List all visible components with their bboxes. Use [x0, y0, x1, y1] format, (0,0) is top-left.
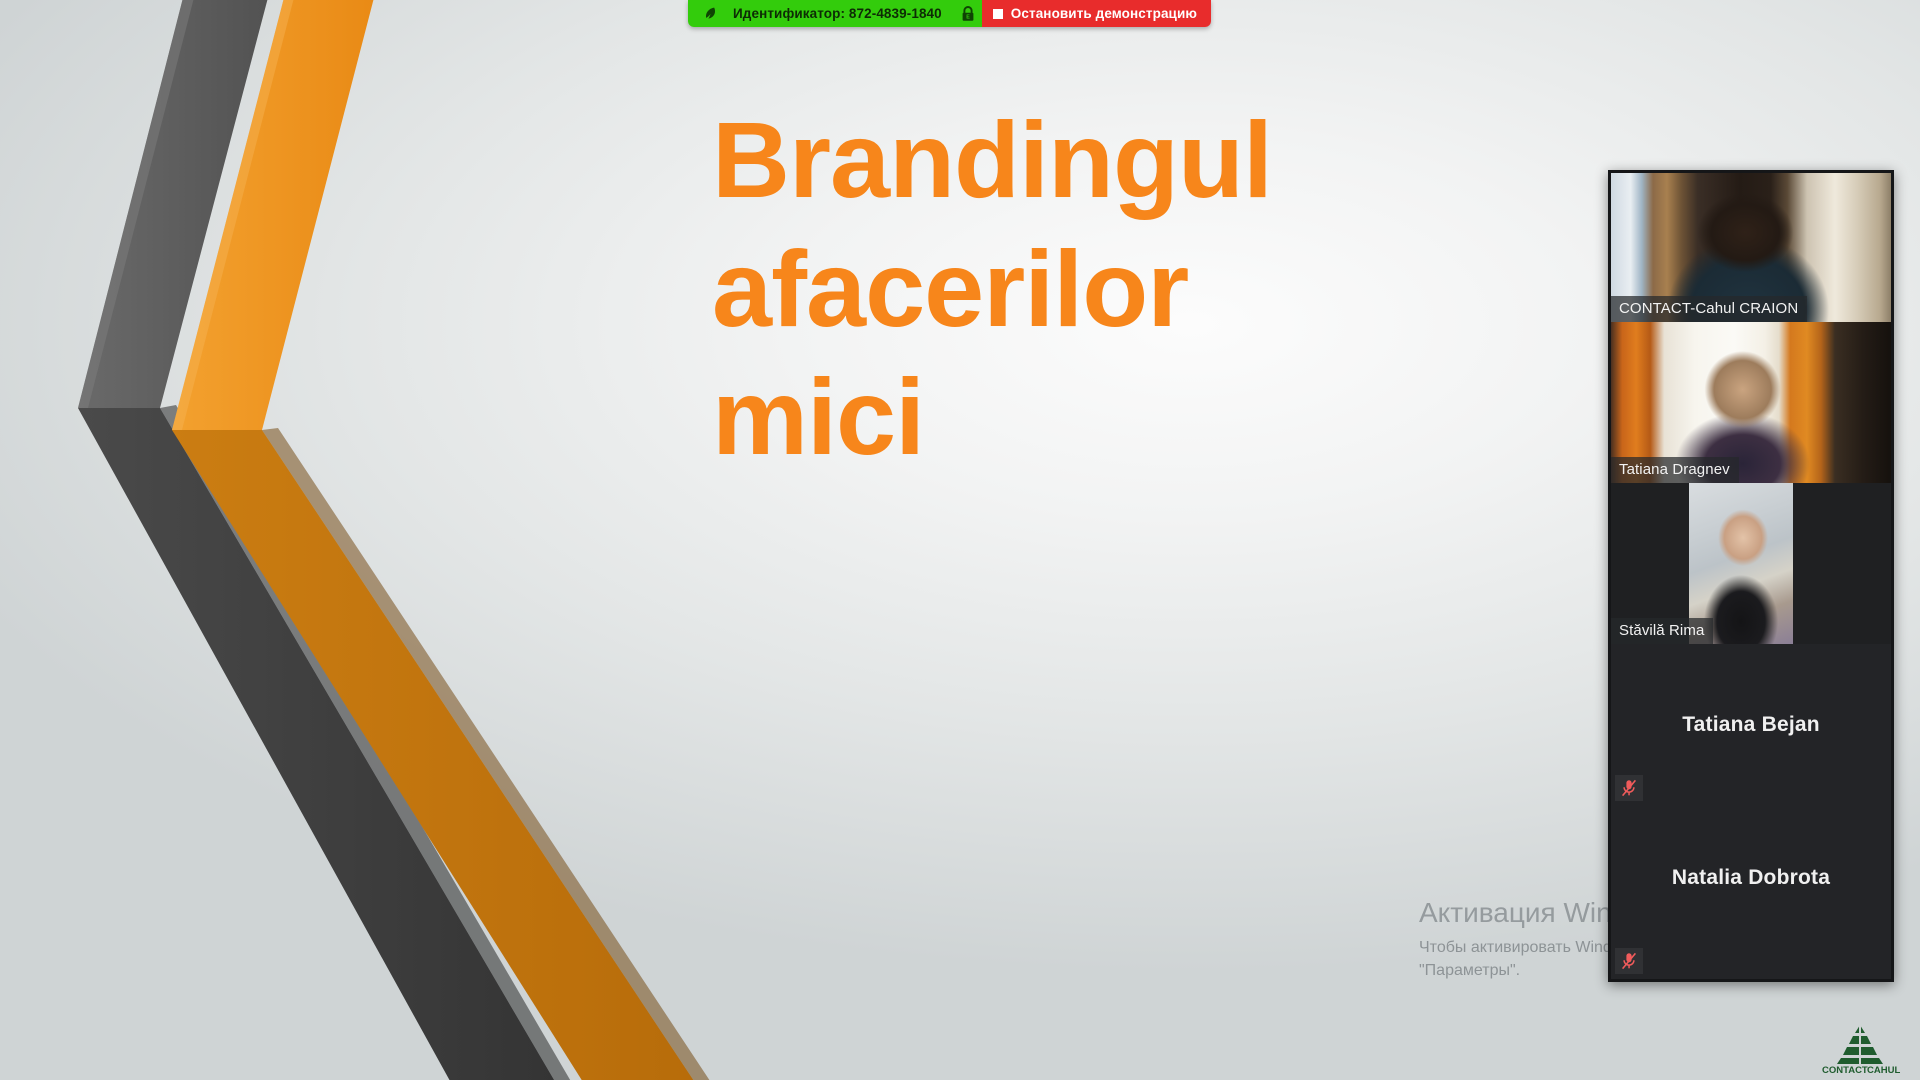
participant-name-label: Tatiana Dragnev [1611, 457, 1739, 483]
video-tile-stavila-rima[interactable]: Stăvilă Rima [1611, 483, 1891, 644]
stop-share-button[interactable]: Остановить демонстрацию [982, 0, 1211, 27]
video-tile-contact-cahul-craion[interactable]: CONTACT-Cahul CRAION [1611, 173, 1891, 322]
video-tile-tatiana-dragnev[interactable]: Tatiana Dragnev [1611, 322, 1891, 483]
logo-text-left: CONTACT [1822, 1065, 1868, 1074]
title-line-1: Brandingul [712, 96, 1512, 225]
participant-name-label: Stăvilă Rima [1611, 618, 1713, 644]
meeting-id-label: Идентификатор: 872-4839-1840 [723, 6, 954, 21]
screen-share-icon [697, 6, 723, 21]
participant-name-label: Tatiana Bejan [1611, 644, 1891, 806]
microphone-muted-icon [1615, 948, 1643, 974]
lock-icon[interactable]: E [954, 6, 982, 22]
share-status-group: Идентификатор: 872-4839-1840 E [688, 0, 982, 27]
video-tile-tatiana-bejan[interactable]: Tatiana Bejan [1611, 644, 1891, 806]
participant-name-label: Natalia Dobrota [1611, 806, 1891, 979]
contact-cahul-logo: CONTACT CAHUL [1818, 1022, 1904, 1074]
stop-share-label: Остановить демонстрацию [1011, 6, 1197, 21]
title-line-2: afacerilor [712, 225, 1512, 354]
title-line-3: mici [712, 353, 1512, 482]
stop-square-icon [993, 9, 1003, 19]
participant-name-label: CONTACT-Cahul CRAION [1611, 296, 1807, 322]
video-tile-natalia-dobrota[interactable]: Natalia Dobrota [1611, 806, 1891, 979]
page-title: Brandingul afacerilor mici [712, 96, 1512, 482]
svg-text:E: E [966, 14, 970, 20]
decorative-chevron-graphic [0, 0, 820, 1080]
microphone-muted-icon [1615, 775, 1643, 801]
video-filmstrip-panel[interactable]: CONTACT-Cahul CRAION Tatiana Dragnev Stă… [1608, 170, 1894, 982]
screen-share-toolbar[interactable]: Идентификатор: 872-4839-1840 E Остановит… [688, 0, 1211, 27]
logo-text-right: CAHUL [1867, 1065, 1900, 1074]
